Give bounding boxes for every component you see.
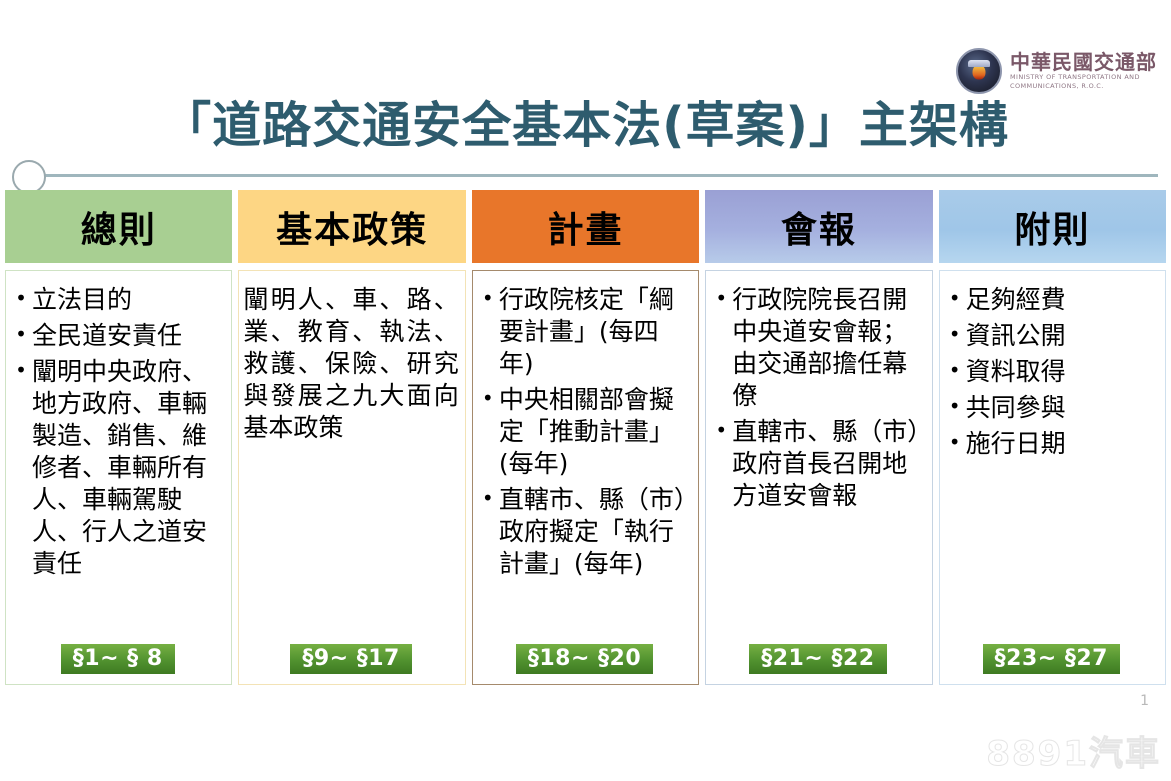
list-item-label: 全民道安責任 bbox=[32, 320, 225, 352]
list-item-label: 立法目的 bbox=[32, 284, 225, 316]
list-item-label: 施行日期 bbox=[966, 428, 1159, 460]
list-item: 闡明人、車、路、業、教育、執法、救護、保險、研究與發展之九大面向基本政策 bbox=[243, 284, 458, 444]
divider-circle-icon bbox=[12, 160, 46, 194]
column-body: •足夠經費 •資訊公開 •資料取得 •共同參與 •施行日期 §23~ §27 bbox=[939, 270, 1166, 685]
divider-line bbox=[34, 174, 1158, 177]
list-item: •共同參與 bbox=[944, 392, 1159, 424]
column-footer: §18~ §20 bbox=[477, 644, 692, 678]
column-footer: §9~ §17 bbox=[243, 644, 458, 678]
bullet-icon: • bbox=[710, 284, 732, 412]
bullet-icon: • bbox=[10, 284, 32, 316]
list-item: •資料取得 bbox=[944, 356, 1159, 388]
list-item: •施行日期 bbox=[944, 428, 1159, 460]
article-range-badge: §23~ §27 bbox=[983, 644, 1120, 674]
list-item: •行政院核定「綱要計畫」(每四年) bbox=[477, 284, 692, 380]
column-basic-policy: 基本政策 闡明人、車、路、業、教育、執法、救護、保險、研究與發展之九大面向基本政… bbox=[238, 190, 465, 685]
bullet-icon: • bbox=[10, 320, 32, 352]
list-item-label: 足夠經費 bbox=[966, 284, 1159, 316]
bullet-icon: • bbox=[944, 284, 966, 316]
ministry-logo-text: 中華民國交通部 MINISTRY OF TRANSPORTATION AND C… bbox=[1010, 52, 1157, 91]
ministry-name-chinese: 中華民國交通部 bbox=[1010, 52, 1157, 72]
column-body: •行政院核定「綱要計畫」(每四年) •中央相關部會擬定「推動計畫」(每年) •直… bbox=[472, 270, 699, 685]
bullet-icon: • bbox=[944, 392, 966, 424]
list-item-label: 資料取得 bbox=[966, 356, 1159, 388]
list-item: •中央相關部會擬定「推動計畫」(每年) bbox=[477, 384, 692, 480]
list-item-label: 行政院院長召開中央道安會報；由交通部擔任幕僚 bbox=[732, 284, 925, 412]
column-conference: 會報 •行政院院長召開中央道安會報；由交通部擔任幕僚 •直轄市、縣（市）政府首長… bbox=[705, 190, 932, 685]
list-item: •資訊公開 bbox=[944, 320, 1159, 352]
list-item-label: 資訊公開 bbox=[966, 320, 1159, 352]
list-item-label: 中央相關部會擬定「推動計畫」(每年) bbox=[499, 384, 692, 480]
bullet-icon: • bbox=[944, 428, 966, 460]
bullet-icon: • bbox=[477, 484, 499, 580]
list-item: •足夠經費 bbox=[944, 284, 1159, 316]
article-range-badge: §18~ §20 bbox=[516, 644, 653, 674]
article-range-badge: §21~ §22 bbox=[749, 644, 886, 674]
column-header: 會報 bbox=[705, 190, 932, 263]
bullet-icon: • bbox=[477, 284, 499, 380]
column-supplementary: 附則 •足夠經費 •資訊公開 •資料取得 •共同參與 •施行日期 §23~ §2… bbox=[939, 190, 1166, 685]
bullet-icon: • bbox=[944, 356, 966, 388]
list-item-label: 共同參與 bbox=[966, 392, 1159, 424]
column-header: 總則 bbox=[5, 190, 232, 263]
column-item-list: •行政院核定「綱要計畫」(每四年) •中央相關部會擬定「推動計畫」(每年) •直… bbox=[477, 284, 692, 644]
column-item-list: •立法目的 •全民道安責任 •闡明中央政府、地方政府、車輛製造、銷售、維修者、車… bbox=[10, 284, 225, 644]
watermark: 8891汽車 bbox=[986, 726, 1161, 775]
column-header: 附則 bbox=[939, 190, 1166, 263]
column-body: •立法目的 •全民道安責任 •闡明中央政府、地方政府、車輛製造、銷售、維修者、車… bbox=[5, 270, 232, 685]
bullet-icon: • bbox=[477, 384, 499, 480]
column-plan: 計畫 •行政院核定「綱要計畫」(每四年) •中央相關部會擬定「推動計畫」(每年)… bbox=[472, 190, 699, 685]
list-item-label: 闡明中央政府、地方政府、車輛製造、銷售、維修者、車輛所有人、車輛駕駛人、行人之道… bbox=[32, 356, 225, 580]
column-footer: §23~ §27 bbox=[944, 644, 1159, 678]
column-header: 計畫 bbox=[472, 190, 699, 263]
column-general-principles: 總則 •立法目的 •全民道安責任 •闡明中央政府、地方政府、車輛製造、銷售、維修… bbox=[5, 190, 232, 685]
list-item: •立法目的 bbox=[10, 284, 225, 316]
article-range-badge: §9~ §17 bbox=[290, 644, 412, 674]
list-item: •行政院院長召開中央道安會報；由交通部擔任幕僚 bbox=[710, 284, 925, 412]
column-footer: §21~ §22 bbox=[710, 644, 925, 678]
page-number: 1 bbox=[1140, 693, 1149, 709]
list-item-label: 直轄市、縣（市）政府擬定「執行計畫」(每年) bbox=[499, 484, 692, 580]
bullet-icon: • bbox=[710, 416, 732, 512]
list-item: •直轄市、縣（市）政府擬定「執行計畫」(每年) bbox=[477, 484, 692, 580]
column-item-list: •行政院院長召開中央道安會報；由交通部擔任幕僚 •直轄市、縣（市）政府首長召開地… bbox=[710, 284, 925, 644]
column-item-list: •足夠經費 •資訊公開 •資料取得 •共同參與 •施行日期 bbox=[944, 284, 1159, 644]
slide-title: 「道路交通安全基本法(草案)」主架構 bbox=[0, 86, 1171, 157]
list-item: •全民道安責任 bbox=[10, 320, 225, 352]
structure-columns: 總則 •立法目的 •全民道安責任 •闡明中央政府、地方政府、車輛製造、銷售、維修… bbox=[5, 190, 1166, 685]
column-item-list: 闡明人、車、路、業、教育、執法、救護、保險、研究與發展之九大面向基本政策 bbox=[243, 284, 458, 644]
list-item-label: 行政院核定「綱要計畫」(每四年) bbox=[499, 284, 692, 380]
column-header: 基本政策 bbox=[238, 190, 465, 263]
column-body: •行政院院長召開中央道安會報；由交通部擔任幕僚 •直轄市、縣（市）政府首長召開地… bbox=[705, 270, 932, 685]
bullet-icon: • bbox=[10, 356, 32, 580]
list-item: •直轄市、縣（市）政府首長召開地方道安會報 bbox=[710, 416, 925, 512]
list-item: •闡明中央政府、地方政府、車輛製造、銷售、維修者、車輛所有人、車輛駕駛人、行人之… bbox=[10, 356, 225, 580]
bullet-icon: • bbox=[944, 320, 966, 352]
list-item-label: 闡明人、車、路、業、教育、執法、救護、保險、研究與發展之九大面向基本政策 bbox=[243, 284, 458, 444]
column-body: 闡明人、車、路、業、教育、執法、救護、保險、研究與發展之九大面向基本政策 §9~… bbox=[238, 270, 465, 685]
column-footer: §1~ § 8 bbox=[10, 644, 225, 678]
list-item-label: 直轄市、縣（市）政府首長召開地方道安會報 bbox=[732, 416, 925, 512]
article-range-badge: §1~ § 8 bbox=[61, 644, 175, 674]
ministry-name-english-line1: MINISTRY OF TRANSPORTATION AND bbox=[1010, 73, 1157, 82]
